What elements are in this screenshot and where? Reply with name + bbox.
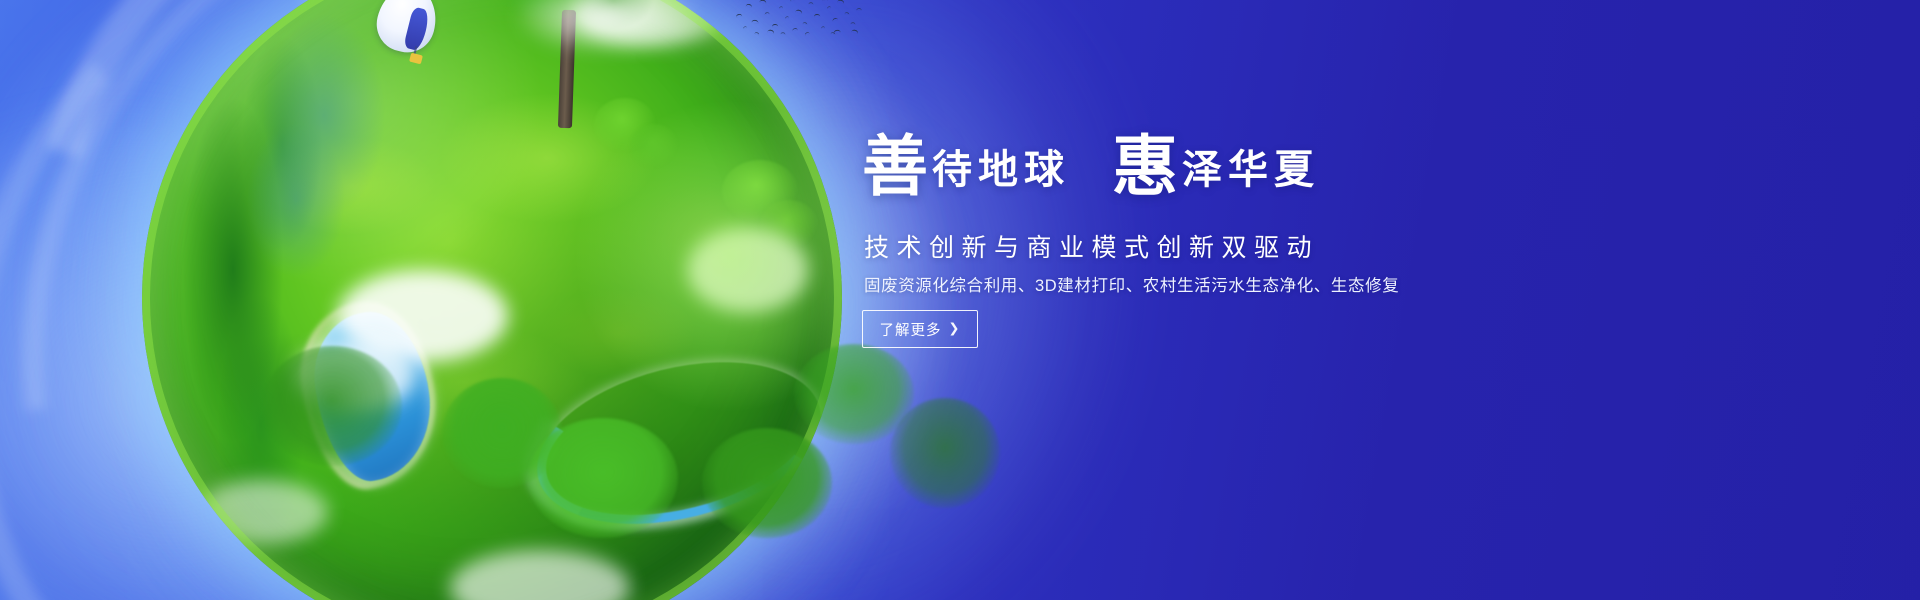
bird-icon — [850, 22, 855, 25]
bird-icon — [759, 0, 767, 4]
bird-icon — [856, 8, 862, 11]
banner-copy: 善待地球惠泽华夏 技术创新与商业模式创新双驱动 固废资源化综合利用、3D建材打印… — [862, 0, 1622, 600]
learn-more-label: 了解更多 — [880, 319, 942, 340]
tree-mist — [510, 0, 700, 56]
headline-rest-2: 泽华夏 — [1182, 147, 1320, 192]
bird-icon — [832, 17, 838, 22]
bird-icon — [804, 32, 809, 36]
bird-icon — [837, 0, 845, 4]
bird-icon — [802, 22, 807, 25]
bird-icon — [821, 26, 825, 29]
green-planet-artwork — [142, 0, 842, 600]
bird-icon — [844, 12, 849, 15]
bird-icon — [780, 32, 785, 35]
learn-more-button[interactable]: 了解更多 ❯ — [862, 310, 978, 348]
bird-icon — [827, 6, 832, 9]
limb-tree — [262, 346, 402, 466]
bird-icon — [736, 13, 743, 17]
bird-flock-icon — [734, 0, 864, 38]
bird-icon — [792, 28, 798, 32]
banner-description: 固废资源化综合利用、3D建材打印、农村生活污水生态净化、生态修复 — [864, 272, 1624, 296]
limb-tree — [702, 428, 832, 538]
bird-icon — [746, 3, 753, 7]
bird-icon — [790, 0, 796, 2]
bird-icon — [754, 32, 759, 36]
bird-icon — [851, 29, 859, 34]
bird-icon — [751, 19, 758, 23]
hot-air-balloon-icon — [378, 0, 436, 78]
bird-icon — [808, 2, 813, 5]
bird-icon — [767, 29, 775, 34]
limb-tree — [528, 418, 678, 538]
headline-rest-1: 待地球 — [932, 147, 1070, 192]
bird-icon — [795, 9, 803, 14]
bird-icon — [772, 24, 778, 27]
bird-icon — [822, 0, 828, 1]
page-title: 善待地球惠泽华夏 — [862, 135, 1622, 225]
headline-lead-1: 善 — [862, 131, 928, 204]
bird-icon — [764, 12, 769, 15]
bird-icon — [743, 26, 748, 29]
bird-icon — [830, 32, 835, 35]
hero-banner: 善待地球惠泽华夏 技术创新与商业模式创新双驱动 固废资源化综合利用、3D建材打印… — [0, 0, 1920, 600]
tree-on-top — [438, 0, 688, 132]
banner-subtitle: 技术创新与商业模式创新双驱动 — [864, 228, 1624, 264]
bird-icon — [814, 14, 820, 17]
headline-lead-2: 惠 — [1112, 131, 1178, 204]
bird-icon — [779, 6, 783, 9]
balloon-basket — [409, 53, 423, 65]
bird-icon — [785, 16, 790, 19]
chevron-right-icon: ❯ — [949, 321, 961, 337]
